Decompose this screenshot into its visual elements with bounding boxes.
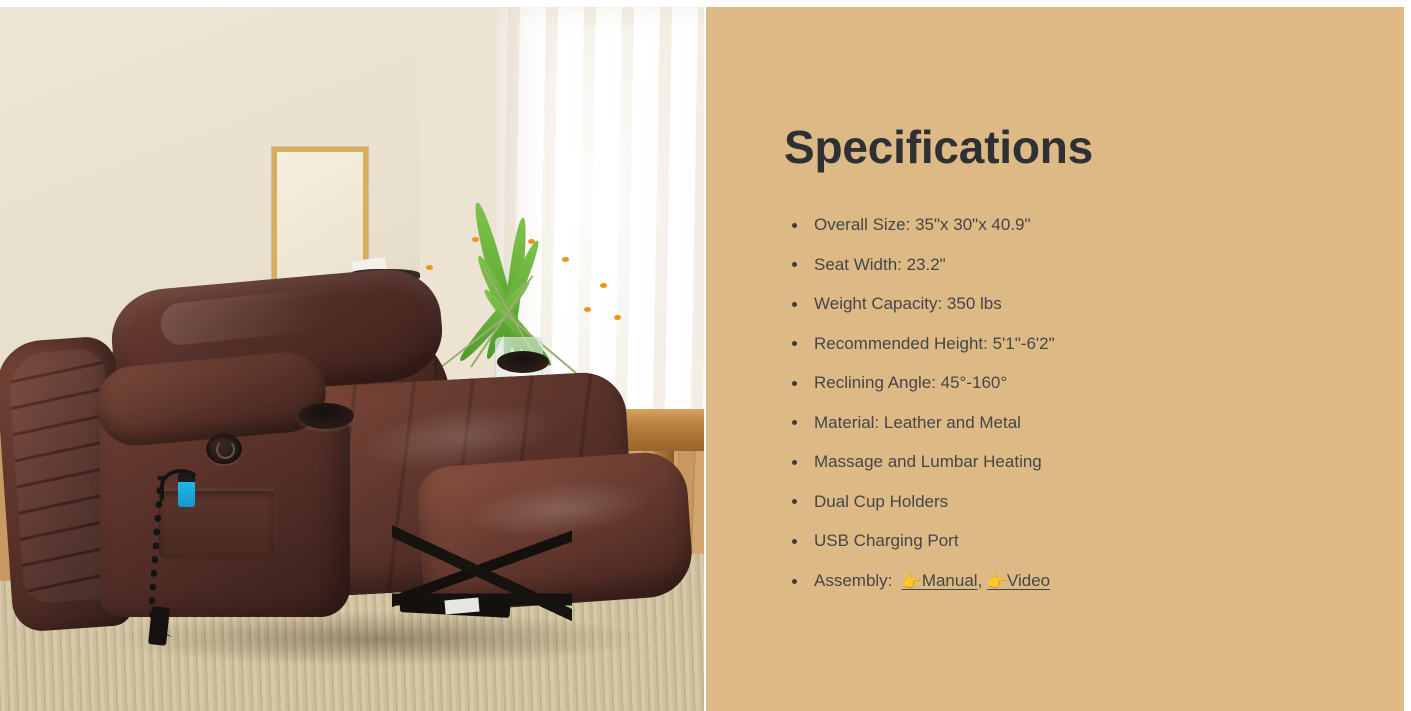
assembly-manual-label: Manual [922,571,978,590]
list-item-assembly: Assembly: 👉Manual, 👉Video [784,561,1344,603]
list-item: USB Charging Port [784,521,1344,561]
list-item: Material: Leather and Metal [784,403,1344,443]
spec-text: Recommended Height: 5'1"-6'2" [814,334,1055,353]
spec-text: Dual Cup Holders [814,492,948,511]
bullet-icon [792,223,797,228]
bullet-icon [792,579,797,584]
spec-text: Weight Capacity: 350 lbs [814,294,1002,313]
list-item: Weight Capacity: 350 lbs [784,284,1344,324]
bullet-icon [792,302,797,307]
assembly-separator: , [978,571,983,590]
list-item: Overall Size: 35"x 30"x 40.9" [784,205,1344,245]
mechanism-label [444,598,479,615]
cup-holder-right [497,351,549,373]
assembly-label: Assembly: [814,571,892,590]
bullet-icon [792,341,797,346]
pointing-hand-icon: 👉 [987,574,1007,591]
specifications-list: Overall Size: 35"x 30"x 40.9" Seat Width… [784,205,1344,602]
spec-text: Reclining Angle: 45°-160° [814,373,1007,392]
list-item: Dual Cup Holders [784,482,1344,522]
list-item: Reclining Angle: 45°-160° [784,363,1344,403]
list-item: Recommended Height: 5'1"-6'2" [784,324,1344,364]
bullet-icon [792,460,797,465]
spec-text: USB Charging Port [814,531,959,550]
bullet-icon [792,539,797,544]
list-item: Seat Width: 23.2" [784,245,1344,285]
product-detail-page: Specifications Overall Size: 35"x 30"x 4… [0,0,1411,711]
list-item: Massage and Lumbar Heating [784,442,1344,482]
spec-text: Seat Width: 23.2" [814,255,946,274]
recliner-chair [0,7,704,711]
assembly-manual-link[interactable]: 👉Manual [902,571,978,590]
power-glyph-icon [216,440,235,459]
product-image-scene [0,7,704,711]
product-image [0,7,704,711]
bullet-icon [792,499,797,504]
spec-text: Overall Size: 35"x 30"x 40.9" [814,215,1031,234]
pointing-hand-icon: 👉 [902,574,922,591]
bullet-icon [792,420,797,425]
spec-text: Material: Leather and Metal [814,413,1021,432]
page-title: Specifications [784,120,1093,174]
spec-text: Massage and Lumbar Heating [814,452,1042,471]
specifications-panel: Specifications Overall Size: 35"x 30"x 4… [706,7,1404,711]
assembly-video-label: Video [1007,571,1050,590]
bullet-icon [792,381,797,386]
assembly-video-link[interactable]: 👉Video [987,571,1050,590]
bullet-icon [792,262,797,267]
cup-holder-left [298,403,354,429]
